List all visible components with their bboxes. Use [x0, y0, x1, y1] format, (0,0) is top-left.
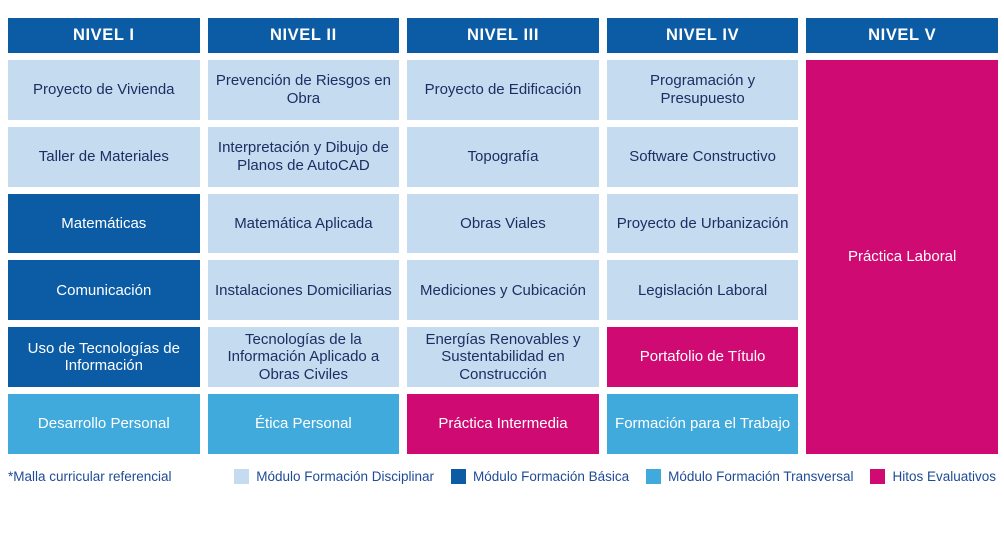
course-cell-legislacion-laboral[interactable]: Legislación Laboral [607, 260, 799, 320]
level-header-nivel-i: NIVEL I [8, 18, 200, 53]
level-column-nivel-i: NIVEL IProyecto de ViviendaTaller de Mat… [8, 18, 200, 454]
course-cell-interpretacion-y-dibujo-de-planos-de-autocad[interactable]: Interpretación y Dibujo de Planos de Aut… [208, 127, 400, 187]
level-column-nivel-iii: NIVEL IIIProyecto de EdificaciónTopograf… [407, 18, 599, 454]
course-cell-proyecto-de-edificacion[interactable]: Proyecto de Edificación [407, 60, 599, 120]
legend-swatch-icon [870, 469, 885, 484]
course-cell-energias-renovables-y-sustentabilidad-en-constru[interactable]: Energías Renovables y Sustentabilidad en… [407, 327, 599, 387]
legend-entry-modulo-formacion-transversal: Módulo Formación Transversal [646, 469, 853, 484]
course-cell-programacion-y-presupuesto[interactable]: Programación y Presupuesto [607, 60, 799, 120]
level-column-body: Proyecto de EdificaciónTopografíaObras V… [407, 60, 599, 454]
course-cell-topografia[interactable]: Topografía [407, 127, 599, 187]
legend-entry-label: Hitos Evaluativos [892, 469, 996, 484]
level-header-nivel-iv: NIVEL IV [607, 18, 799, 53]
course-cell-proyecto-de-vivienda[interactable]: Proyecto de Vivienda [8, 60, 200, 120]
legend-entry-label: Módulo Formación Básica [473, 469, 629, 484]
course-cell-portafolio-de-titulo[interactable]: Portafolio de Título [607, 327, 799, 387]
level-column-body: Proyecto de ViviendaTaller de Materiales… [8, 60, 200, 454]
legend-swatch-icon [234, 469, 249, 484]
course-cell-matematicas[interactable]: Matemáticas [8, 194, 200, 254]
level-column-nivel-iv: NIVEL IVProgramación y PresupuestoSoftwa… [607, 18, 799, 454]
legend-footnote: *Malla curricular referencial [8, 469, 172, 484]
course-cell-uso-de-tecnologias-de-informacion[interactable]: Uso de Tecnologías de Información [8, 327, 200, 387]
course-cell-obras-viales[interactable]: Obras Viales [407, 194, 599, 254]
level-column-nivel-v: NIVEL VPráctica Laboral [806, 18, 998, 454]
course-cell-proyecto-de-urbanizacion[interactable]: Proyecto de Urbanización [607, 194, 799, 254]
course-cell-formacion-para-el-trabajo[interactable]: Formación para el Trabajo [607, 394, 799, 454]
legend-entry-label: Módulo Formación Transversal [668, 469, 853, 484]
legend-entry-hitos-evaluativos: Hitos Evaluativos [870, 469, 996, 484]
course-cell-practica-laboral[interactable]: Práctica Laboral [806, 60, 998, 454]
course-cell-practica-intermedia[interactable]: Práctica Intermedia [407, 394, 599, 454]
course-cell-comunicacion[interactable]: Comunicación [8, 260, 200, 320]
level-column-body: Práctica Laboral [806, 60, 998, 454]
course-cell-instalaciones-domiciliarias[interactable]: Instalaciones Domiciliarias [208, 260, 400, 320]
level-column-body: Programación y PresupuestoSoftware Const… [607, 60, 799, 454]
course-cell-prevencion-de-riesgos-en-obra[interactable]: Prevención de Riesgos en Obra [208, 60, 400, 120]
course-cell-software-constructivo[interactable]: Software Constructivo [607, 127, 799, 187]
legend-swatch-icon [451, 469, 466, 484]
legend-entry-modulo-formacion-basica: Módulo Formación Básica [451, 469, 629, 484]
course-cell-desarrollo-personal[interactable]: Desarrollo Personal [8, 394, 200, 454]
course-cell-tecnologias-de-la-informacion-aplicado-a-obras-c[interactable]: Tecnologías de la Información Aplicado a… [208, 327, 400, 387]
level-column-body: Prevención de Riesgos en ObraInterpretac… [208, 60, 400, 454]
legend-entry-modulo-formacion-disciplinar: Módulo Formación Disciplinar [234, 469, 434, 484]
level-header-nivel-ii: NIVEL II [208, 18, 400, 53]
legend-items: Módulo Formación DisciplinarMódulo Forma… [234, 469, 996, 484]
course-cell-etica-personal[interactable]: Ética Personal [208, 394, 400, 454]
legend-entry-label: Módulo Formación Disciplinar [256, 469, 434, 484]
course-cell-matematica-aplicada[interactable]: Matemática Aplicada [208, 194, 400, 254]
level-header-nivel-iii: NIVEL III [407, 18, 599, 53]
course-cell-mediciones-y-cubicacion[interactable]: Mediciones y Cubicación [407, 260, 599, 320]
levels-grid: NIVEL IProyecto de ViviendaTaller de Mat… [8, 18, 998, 454]
level-header-nivel-v: NIVEL V [806, 18, 998, 53]
curriculum-matrix: NIVEL IProyecto de ViviendaTaller de Mat… [0, 0, 1004, 556]
level-column-nivel-ii: NIVEL IIPrevención de Riesgos en ObraInt… [208, 18, 400, 454]
course-cell-taller-de-materiales[interactable]: Taller de Materiales [8, 127, 200, 187]
legend: *Malla curricular referencial Módulo For… [8, 464, 996, 488]
legend-swatch-icon [646, 469, 661, 484]
